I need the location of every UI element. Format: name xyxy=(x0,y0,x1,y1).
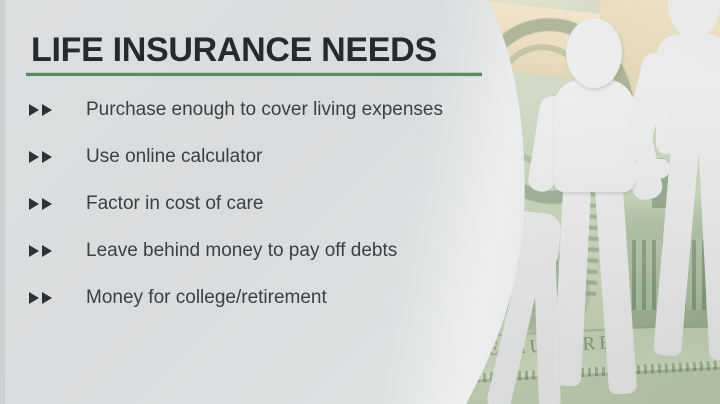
cutout-main-head xyxy=(566,18,622,88)
list-item-label: Use online calculator xyxy=(86,146,262,168)
cutout-main-torso xyxy=(554,80,634,192)
double-triangle-right-icon xyxy=(29,104,52,116)
slide-content: LIFE INSURANCE NEEDS Purchase enough to … xyxy=(0,0,540,404)
triangle-right-icon xyxy=(42,245,52,257)
double-triangle-right-icon xyxy=(29,198,52,210)
cutout-right-head xyxy=(668,0,720,38)
cutout-main-leg-right xyxy=(595,185,637,394)
triangle-right-icon xyxy=(42,151,52,163)
cutout-main-leg-left xyxy=(553,185,591,386)
title-underline xyxy=(26,72,482,77)
cutout-right-leg-right xyxy=(698,145,720,360)
list-item-label: Factor in cost of care xyxy=(86,193,263,215)
triangle-right-icon xyxy=(29,292,39,304)
paper-cutout-person-right xyxy=(648,0,720,404)
double-triangle-right-icon xyxy=(29,245,52,257)
list-item-label: Leave behind money to pay off debts xyxy=(86,240,397,262)
double-triangle-right-icon xyxy=(29,292,52,304)
list-item-label: Money for college/retirement xyxy=(86,287,327,309)
bullet-list: Purchase enough to cover living expenses… xyxy=(0,86,540,321)
cutout-right-torso xyxy=(656,34,720,154)
list-item: Money for college/retirement xyxy=(0,274,540,321)
cutout-right-leg-left xyxy=(653,145,699,357)
list-item-label: Purchase enough to cover living expenses xyxy=(86,99,443,121)
slide-graphic: ONE HUNDRED LIFE INSURA xyxy=(0,0,720,404)
double-triangle-right-icon xyxy=(29,151,52,163)
list-item: Purchase enough to cover living expenses xyxy=(0,86,540,133)
list-item: Leave behind money to pay off debts xyxy=(0,227,540,274)
triangle-right-icon xyxy=(29,104,39,116)
triangle-right-icon xyxy=(42,292,52,304)
triangle-right-icon xyxy=(29,245,39,257)
triangle-right-icon xyxy=(42,104,52,116)
list-item: Factor in cost of care xyxy=(0,180,540,227)
slide-title: LIFE INSURANCE NEEDS xyxy=(31,31,437,70)
list-item: Use online calculator xyxy=(0,133,540,180)
triangle-right-icon xyxy=(29,198,39,210)
triangle-right-icon xyxy=(42,198,52,210)
triangle-right-icon xyxy=(29,151,39,163)
